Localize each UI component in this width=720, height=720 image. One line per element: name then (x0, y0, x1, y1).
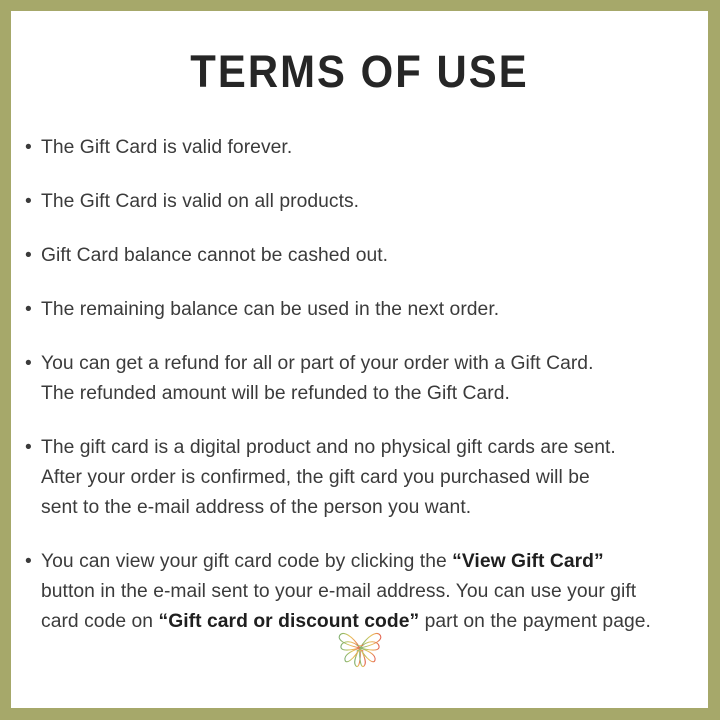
term-line: After your order is confirmed, the gift … (41, 463, 700, 493)
bullet-icon: • (25, 295, 32, 325)
term-line: The gift card is a digital product and n… (41, 433, 700, 463)
card-content-area: TERMS OF USE •The Gift Card is valid for… (11, 11, 708, 708)
bullet-icon: • (25, 187, 32, 217)
term-line: sent to the e-mail address of the person… (41, 493, 700, 523)
term-text: sent to the e-mail address of the person… (41, 497, 471, 518)
bow-butterfly-logo (332, 624, 388, 672)
term-emphasis: “View Gift Card” (452, 551, 604, 572)
term-text: After your order is confirmed, the gift … (41, 467, 590, 488)
term-line: The refunded amount will be refunded to … (41, 379, 700, 409)
term-line: You can get a refund for all or part of … (41, 349, 700, 379)
term-line: The Gift Card is valid on all products. (41, 187, 700, 217)
term-line: You can view your gift card code by clic… (41, 547, 700, 577)
terms-list: •The Gift Card is valid forever.•The Gif… (25, 133, 700, 637)
term-item: •The Gift Card is valid on all products. (25, 187, 700, 217)
term-line: The Gift Card is valid forever. (41, 133, 700, 163)
bullet-icon: • (25, 349, 32, 379)
term-text: The Gift Card is valid on all products. (41, 191, 359, 212)
term-text: You can view your gift card code by clic… (41, 551, 452, 572)
term-text: You can get a refund for all or part of … (41, 353, 594, 374)
term-item: •The Gift Card is valid forever. (25, 133, 700, 163)
bullet-icon: • (25, 547, 32, 577)
term-text: button in the e-mail sent to your e-mail… (41, 581, 636, 602)
page-title: TERMS OF USE (35, 49, 683, 94)
bullet-icon: • (25, 241, 32, 271)
brand-mark (11, 624, 708, 672)
term-text: The remaining balance can be used in the… (41, 299, 499, 320)
term-line: button in the e-mail sent to your e-mail… (41, 577, 700, 607)
term-item: •The gift card is a digital product and … (25, 433, 700, 523)
term-text: The Gift Card is valid forever. (41, 137, 292, 158)
bullet-icon: • (25, 433, 32, 463)
term-text: The gift card is a digital product and n… (41, 437, 616, 458)
term-line: Gift Card balance cannot be cashed out. (41, 241, 700, 271)
term-item: •The remaining balance can be used in th… (25, 295, 700, 325)
term-text: Gift Card balance cannot be cashed out. (41, 245, 388, 266)
term-line: The remaining balance can be used in the… (41, 295, 700, 325)
term-item: •Gift Card balance cannot be cashed out. (25, 241, 700, 271)
term-text: The refunded amount will be refunded to … (41, 383, 510, 404)
bullet-icon: • (25, 133, 32, 163)
term-item: •You can get a refund for all or part of… (25, 349, 700, 409)
gift-card-terms-page: TERMS OF USE •The Gift Card is valid for… (0, 0, 720, 720)
